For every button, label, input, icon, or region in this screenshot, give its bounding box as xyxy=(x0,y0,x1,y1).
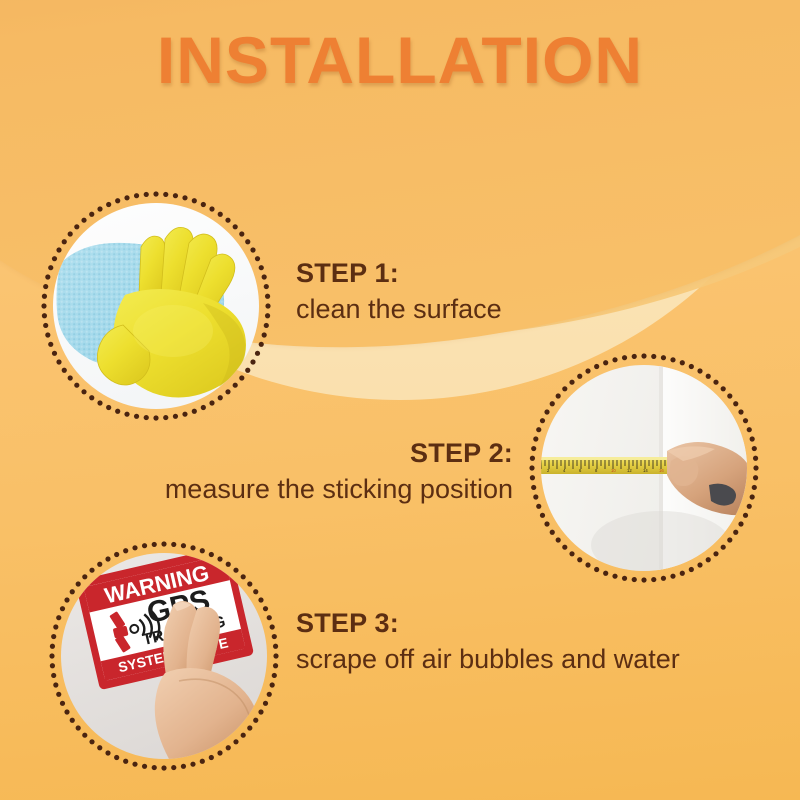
svg-text:10: 10 xyxy=(611,468,616,473)
hand-applying-warning-sticker-photo: WARNING GPS TRACKING SYSTEM ACTIVE xyxy=(61,553,267,759)
step-1-heading: STEP 1: xyxy=(296,258,502,290)
svg-text:16: 16 xyxy=(659,468,664,473)
step-2-heading: STEP 2: xyxy=(165,438,513,470)
svg-text:14: 14 xyxy=(643,468,648,473)
step-3-text: STEP 3: scrape off air bubbles and water xyxy=(296,608,680,676)
step-3-heading: STEP 3: xyxy=(296,608,680,640)
step-2-description: measure the sticking position xyxy=(165,474,513,506)
hand-measuring-wall-photo: 24 68 1012 1416 xyxy=(541,365,747,571)
page-title: INSTALLATION xyxy=(0,22,800,98)
step-2-text: STEP 2: measure the sticking position xyxy=(165,438,513,506)
installation-poster: INSTALLATION xyxy=(0,0,800,800)
step-1-description: clean the surface xyxy=(296,294,502,326)
gloved-hand-wiping-surface-photo xyxy=(53,203,259,409)
step-3-description: scrape off air bubbles and water xyxy=(296,644,680,676)
svg-text:12: 12 xyxy=(627,468,632,473)
step-1-text: STEP 1: clean the surface xyxy=(296,258,502,326)
